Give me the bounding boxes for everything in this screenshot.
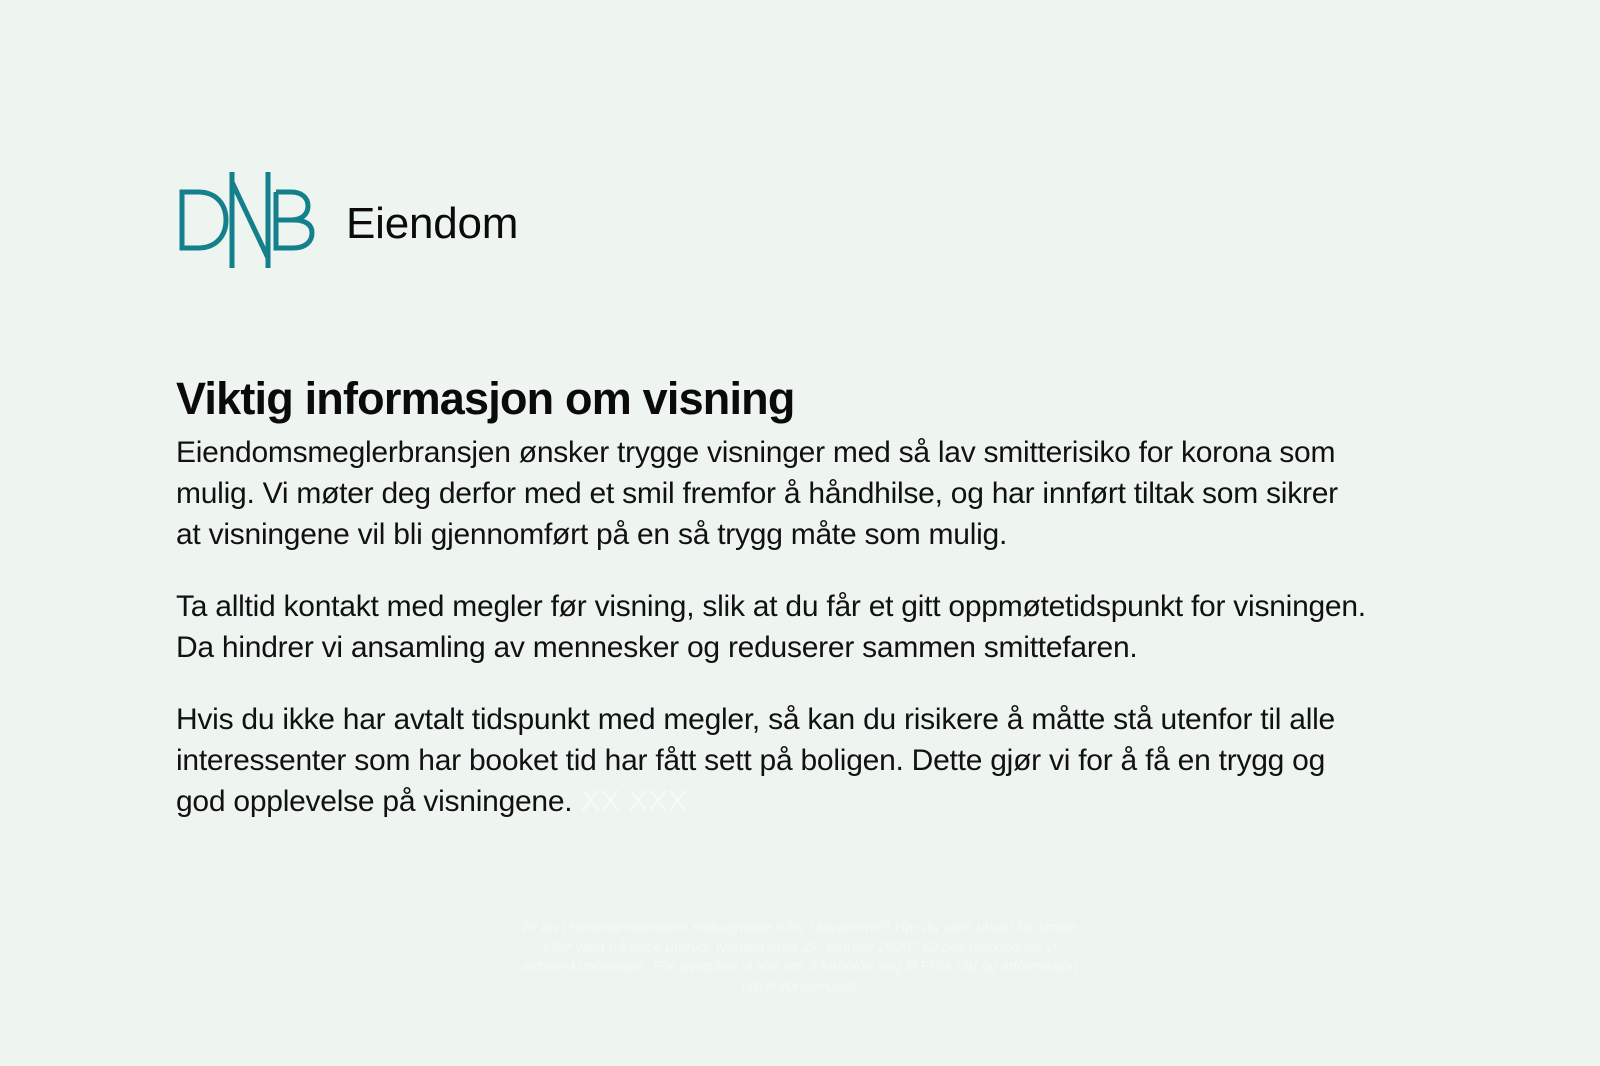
paragraph-1: Eiendomsmeglerbransjen ønsker trygge vis… [176,432,1366,555]
paragraph-3-text: Hvis du ikke har avtalt tidspunkt med me… [176,703,1335,818]
paragraph-2: Ta alltid kontakt med megler før visning… [176,586,1366,668]
fineprint-text: Er du i Helsedirektoratets risikogruppe … [520,918,1080,996]
paragraph-3: Hvis du ikke har avtalt tidspunkt med me… [176,699,1366,822]
body-copy: Eiendomsmeglerbransjen ønsker trygge vis… [176,432,1366,822]
page-title: Viktig informasjon om visning [176,374,795,424]
brand-lockup: Eiendom [176,170,518,270]
slide-canvas: Eiendom Viktig informasjon om visning Ei… [0,0,1600,1066]
dnb-logo-icon [176,170,316,270]
redacted-placeholder: XX XXX [580,785,687,818]
fineprint-disclaimer: Er du i Helsedirektoratets risikogruppe … [0,918,1600,996]
brand-word-eiendom: Eiendom [346,202,518,246]
